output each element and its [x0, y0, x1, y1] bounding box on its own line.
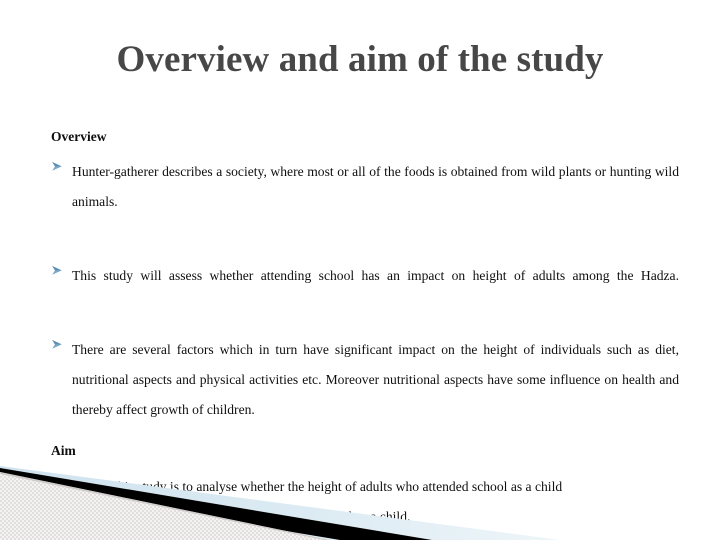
arrowhead-bullet-icon — [51, 160, 64, 173]
list-item: This study will assess whether attending… — [51, 261, 679, 321]
section-heading-aim: Aim — [51, 442, 679, 459]
list-item-text: Hunter-gatherer describes a society, whe… — [72, 157, 679, 247]
list-item: Hunter-gatherer describes a society, whe… — [51, 157, 679, 247]
aim-paragraph-line-2: differs from that of adults that did not… — [51, 502, 679, 532]
list-item-text: There are several factors which in turn … — [72, 335, 679, 425]
list-item: There are several factors which in turn … — [51, 335, 679, 425]
section-heading-overview: Overview — [51, 128, 679, 145]
title-placeholder: Overview and aim of the study — [0, 38, 720, 82]
aim-paragraph: The aim of this study is to analyse whet… — [51, 472, 679, 532]
arrowhead-bullet-icon — [51, 338, 64, 351]
page-title: Overview and aim of the study — [117, 38, 604, 82]
arrowhead-bullet-icon — [51, 264, 64, 277]
list-item-text: This study will assess whether attending… — [72, 261, 679, 321]
content-placeholder: Overview Hunter-gatherer describes a soc… — [51, 128, 679, 532]
aim-paragraph-line-1: The aim of this study is to analyse whet… — [51, 472, 679, 502]
slide-canvas: Overview and aim of the study Overview H… — [0, 0, 720, 540]
